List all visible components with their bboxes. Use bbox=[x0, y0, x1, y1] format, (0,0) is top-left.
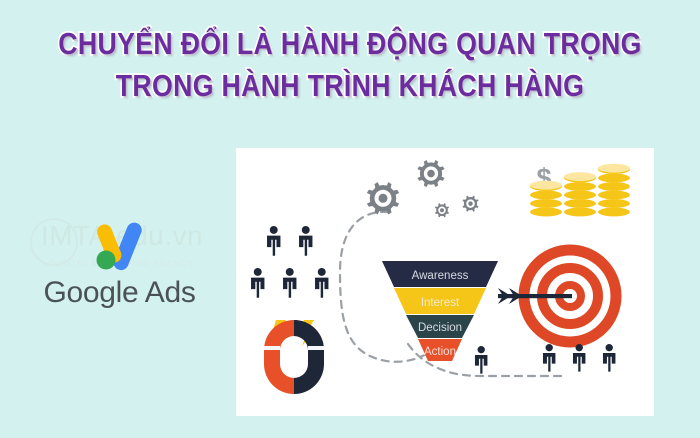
funnel-label-interest: Interest bbox=[421, 297, 460, 309]
brand-panel: IMTA.edu.vn DIGITAL MARKETING AGENCY Goo… bbox=[12, 196, 227, 326]
customer-journey-illustration: Awareness Interest Decision Action $ bbox=[236, 148, 654, 416]
watermark-circle-icon bbox=[30, 218, 78, 266]
people-right-single bbox=[475, 346, 487, 374]
funnel-stage-action: Action bbox=[418, 339, 462, 361]
target-icon bbox=[498, 250, 616, 342]
coin-stack-2 bbox=[564, 172, 596, 216]
title-line-2: TRONG HÀNH TRÌNH KHÁCH HÀNG bbox=[49, 70, 651, 101]
funnel-stage-awareness: Awareness bbox=[382, 261, 498, 287]
illustration-card: Awareness Interest Decision Action $ bbox=[236, 148, 654, 416]
funnel-label-action: Action bbox=[424, 346, 456, 358]
funnel-stage-decision: Decision bbox=[406, 315, 474, 338]
people-right-group bbox=[543, 344, 615, 372]
google-ads-logo-icon bbox=[84, 214, 154, 276]
page-title: CHUYỂN ĐỔI LÀ HÀNH ĐỘNG QUAN TRỌNG TRONG… bbox=[0, 28, 700, 101]
magnet-icon bbox=[264, 320, 324, 394]
coins-group: $ bbox=[530, 163, 630, 216]
brand-wordmark: Google Ads bbox=[12, 276, 227, 310]
gears-group bbox=[367, 160, 479, 217]
funnel-label-awareness: Awareness bbox=[412, 270, 469, 282]
funnel-stage-interest: Interest bbox=[394, 288, 486, 314]
conversion-funnel: Awareness Interest Decision Action bbox=[382, 261, 498, 361]
coin-stack-3 bbox=[598, 164, 630, 217]
funnel-label-decision: Decision bbox=[418, 322, 462, 334]
people-left-group bbox=[251, 226, 328, 298]
coin-stack-1 bbox=[530, 181, 562, 217]
title-line-1: CHUYỂN ĐỔI LÀ HÀNH ĐỘNG QUAN TRỌNG bbox=[49, 28, 651, 59]
